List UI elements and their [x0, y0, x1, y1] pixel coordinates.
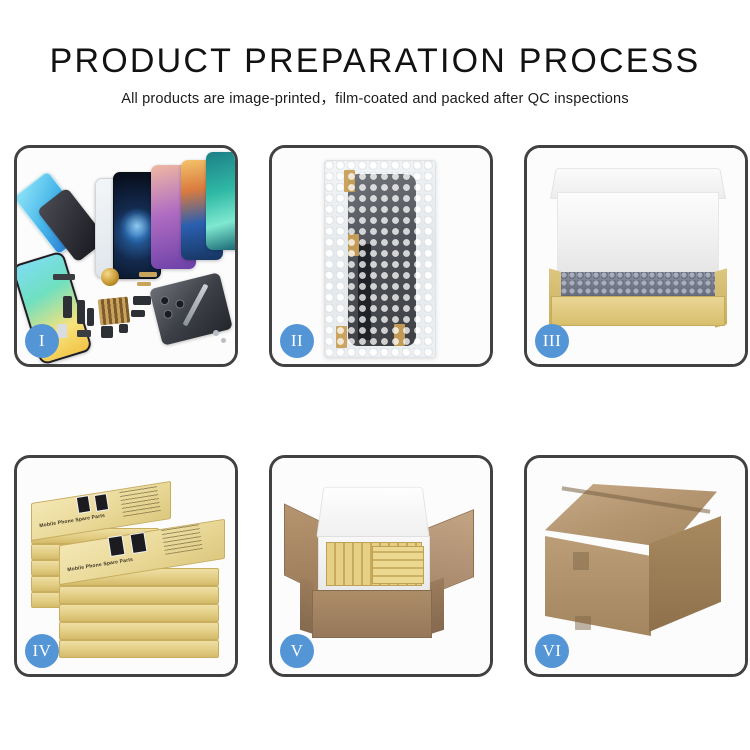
- box-stack-icon: Mobile Phone Spare Parts Mobile Phone Sp…: [29, 474, 229, 664]
- page-title: PRODUCT PREPARATION PROCESS: [0, 42, 750, 80]
- foam-sheet-icon: [557, 192, 719, 272]
- step-badge-2: II: [280, 324, 314, 358]
- step-panel-4: Mobile Phone Spare Parts Mobile Phone Sp…: [14, 455, 238, 677]
- stacked-box-icon: [59, 586, 219, 604]
- step-panel-2: II: [269, 145, 493, 367]
- flex-cable-icon: [133, 296, 151, 305]
- carton-handle-tab-icon: [573, 552, 589, 570]
- step-panel-6: VI: [524, 455, 748, 677]
- step-panel-3: III: [524, 145, 748, 367]
- flex-cable-icon: [358, 244, 371, 340]
- kraft-box-front-icon: [551, 296, 725, 326]
- bubble-wrapped-items-icon: [561, 272, 715, 298]
- carton-handle-tab-icon: [575, 616, 591, 630]
- stacked-box-icon: [59, 640, 219, 658]
- flex-cable-icon: [63, 296, 72, 318]
- spare-part-icon: [53, 274, 75, 280]
- step-panel-1: I: [14, 145, 238, 367]
- screw-icon: [213, 330, 219, 336]
- carton-side-right-icon: [430, 578, 444, 635]
- page-subtitle: All products are image-printed，film-coat…: [0, 90, 750, 108]
- flex-cable-icon: [87, 308, 94, 326]
- step-panel-5: V: [269, 455, 493, 677]
- tape-strip-icon: [344, 170, 355, 192]
- screw-icon: [221, 338, 226, 343]
- step-badge-6: VI: [535, 634, 569, 668]
- speaker-module-icon: [101, 326, 113, 338]
- step-badge-4: IV: [25, 634, 59, 668]
- tape-strip-icon: [336, 326, 347, 348]
- flex-cable-icon: [77, 300, 85, 324]
- spare-part-gold-icon: [137, 282, 151, 286]
- header: PRODUCT PREPARATION PROCESS All products…: [0, 0, 750, 108]
- spare-part-icon: [119, 324, 128, 333]
- sim-tray-icon: [57, 324, 67, 338]
- vibration-motor-icon: [101, 268, 119, 286]
- box-product-thumbnail: [108, 535, 126, 557]
- camera-lens-icon: [159, 295, 170, 306]
- step-badge-3: III: [535, 324, 569, 358]
- step-badge-5: V: [280, 634, 314, 668]
- box-product-thumbnail: [94, 493, 109, 512]
- product-preparation-infographic: PRODUCT PREPARATION PROCESS All products…: [0, 0, 750, 750]
- carton-front-icon: [545, 536, 651, 636]
- step-badge-1: I: [25, 324, 59, 358]
- tape-strip-icon: [348, 234, 359, 256]
- chipset-grid-icon: [98, 297, 131, 326]
- box-product-thumbnail: [130, 532, 148, 554]
- spare-part-gold-icon: [139, 272, 157, 277]
- carton-front-icon: [312, 590, 432, 638]
- flex-cable-icon: [131, 310, 145, 317]
- tape-strip-icon: [394, 324, 405, 346]
- stacked-box-icon: [59, 604, 219, 622]
- inner-kraft-boxes-icon: [372, 546, 424, 584]
- phone-display-teal-icon: [206, 152, 238, 250]
- camera-lens-icon: [175, 299, 186, 310]
- spare-part-icon: [77, 330, 91, 337]
- process-steps-grid: I II: [14, 145, 736, 677]
- stacked-box-icon: [59, 622, 219, 640]
- camera-lens-icon: [163, 309, 174, 320]
- foam-box-lid-icon: [316, 487, 430, 539]
- box-product-thumbnail: [76, 495, 91, 514]
